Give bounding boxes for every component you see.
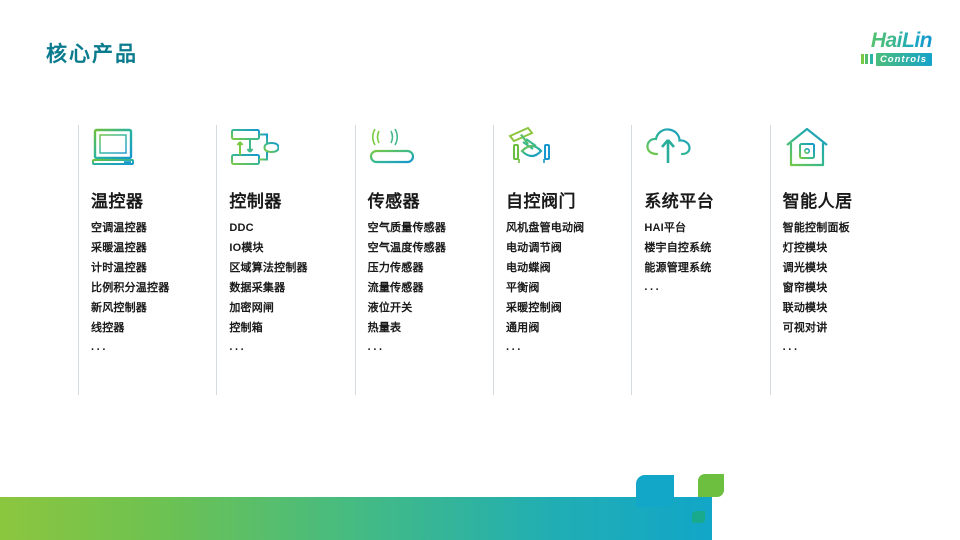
wireless-sensor-icon [368,125,493,181]
list-item[interactable]: 联动模块 [783,298,908,318]
list-item[interactable]: 区域算法控制器 [229,258,354,278]
list-item[interactable]: 控制箱 [229,318,354,338]
category-item-list: 空气质量传感器 空气温度传感器 压力传感器 流量传感器 液位开关 热量表 ··· [368,218,493,360]
list-item[interactable]: 可视对讲 [783,318,908,338]
category-column-controller[interactable]: 控制器 DDC IO模块 区域算法控制器 数据采集器 加密网闸 控制箱 ··· [216,125,354,395]
valve-icon [506,125,631,181]
smart-home-chip-icon [783,125,908,181]
list-item-more: ··· [229,338,354,360]
list-item[interactable]: DDC [229,218,354,238]
list-item-more: ··· [91,338,216,360]
footer-leaf-teal [636,475,674,507]
product-category-columns: 温控器 空调温控器 采暖温控器 计时温控器 比例积分温控器 新风控制器 线控器 … [78,125,908,395]
category-title: 系统平台 [644,187,769,212]
category-item-list: HAI平台 楼宇自控系统 能源管理系统 ··· [644,218,769,300]
category-title: 传感器 [368,187,493,212]
category-title: 温控器 [91,187,216,212]
list-item[interactable]: 热量表 [368,318,493,338]
list-item[interactable]: 电动蝶阀 [506,258,631,278]
list-item[interactable]: 空气质量传感器 [368,218,493,238]
monitor-thermostat-icon [91,125,216,181]
list-item-more: ··· [506,338,631,360]
footer-gradient-bar [0,497,712,540]
logo-tagline: Controls [876,53,932,66]
logo-bars-icon [861,54,873,64]
category-item-list: 风机盘管电动阀 电动调节阀 电动蝶阀 平衡阀 采暖控制阀 通用阀 ··· [506,218,631,360]
category-column-smart-home[interactable]: 智能人居 智能控制面板 灯控模块 调光模块 窗帘模块 联动模块 可视对讲 ··· [770,125,908,395]
category-column-thermostat[interactable]: 温控器 空调温控器 采暖温控器 计时温控器 比例积分温控器 新风控制器 线控器 … [78,125,216,395]
logo-subline: Controls [861,53,932,66]
list-item[interactable]: 通用阀 [506,318,631,338]
category-column-platform[interactable]: 系统平台 HAI平台 楼宇自控系统 能源管理系统 ··· [631,125,769,395]
list-item-more: ··· [368,338,493,360]
list-item[interactable]: HAI平台 [644,218,769,238]
category-title: 控制器 [229,187,354,212]
list-item[interactable]: IO模块 [229,238,354,258]
list-item-more: ··· [783,338,908,360]
category-item-list: 空调温控器 采暖温控器 计时温控器 比例积分温控器 新风控制器 线控器 ··· [91,218,216,360]
category-column-sensor[interactable]: 传感器 空气质量传感器 空气温度传感器 压力传感器 流量传感器 液位开关 热量表… [355,125,493,395]
list-item[interactable]: 灯控模块 [783,238,908,258]
list-item[interactable]: 采暖温控器 [91,238,216,258]
list-item[interactable]: 空调温控器 [91,218,216,238]
list-item[interactable]: 风机盘管电动阀 [506,218,631,238]
list-item[interactable]: 压力传感器 [368,258,493,278]
list-item[interactable]: 流量传感器 [368,278,493,298]
list-item[interactable]: 加密网闸 [229,298,354,318]
list-item[interactable]: 新风控制器 [91,298,216,318]
cloud-upload-icon [644,125,769,181]
list-item[interactable]: 调光模块 [783,258,908,278]
page-title: 核心产品 [46,38,138,68]
list-item[interactable]: 电动调节阀 [506,238,631,258]
footer-leaf-small-teal [692,511,705,523]
logo-wordmark: HaiLin [871,30,932,51]
list-item[interactable]: 数据采集器 [229,278,354,298]
list-item[interactable]: 平衡阀 [506,278,631,298]
list-item[interactable]: 能源管理系统 [644,258,769,278]
category-title: 自控阀门 [506,187,631,212]
list-item[interactable]: 空气温度传感器 [368,238,493,258]
list-item-more: ··· [644,278,769,300]
list-item[interactable]: 智能控制面板 [783,218,908,238]
category-item-list: 智能控制面板 灯控模块 调光模块 窗帘模块 联动模块 可视对讲 ··· [783,218,908,360]
list-item[interactable]: 采暖控制阀 [506,298,631,318]
list-item[interactable]: 线控器 [91,318,216,338]
list-item[interactable]: 比例积分温控器 [91,278,216,298]
list-item[interactable]: 计时温控器 [91,258,216,278]
controller-network-icon [229,125,354,181]
slide-canvas: 核心产品 HaiLin Controls 温控器 [0,0,960,540]
list-item[interactable]: 窗帘模块 [783,278,908,298]
brand-logo: HaiLin Controls [812,28,932,68]
category-title: 智能人居 [783,187,908,212]
list-item[interactable]: 楼宇自控系统 [644,238,769,258]
category-column-valve[interactable]: 自控阀门 风机盘管电动阀 电动调节阀 电动蝶阀 平衡阀 采暖控制阀 通用阀 ··… [493,125,631,395]
category-item-list: DDC IO模块 区域算法控制器 数据采集器 加密网闸 控制箱 ··· [229,218,354,360]
list-item[interactable]: 液位开关 [368,298,493,318]
footer-leaf-green [698,474,724,497]
